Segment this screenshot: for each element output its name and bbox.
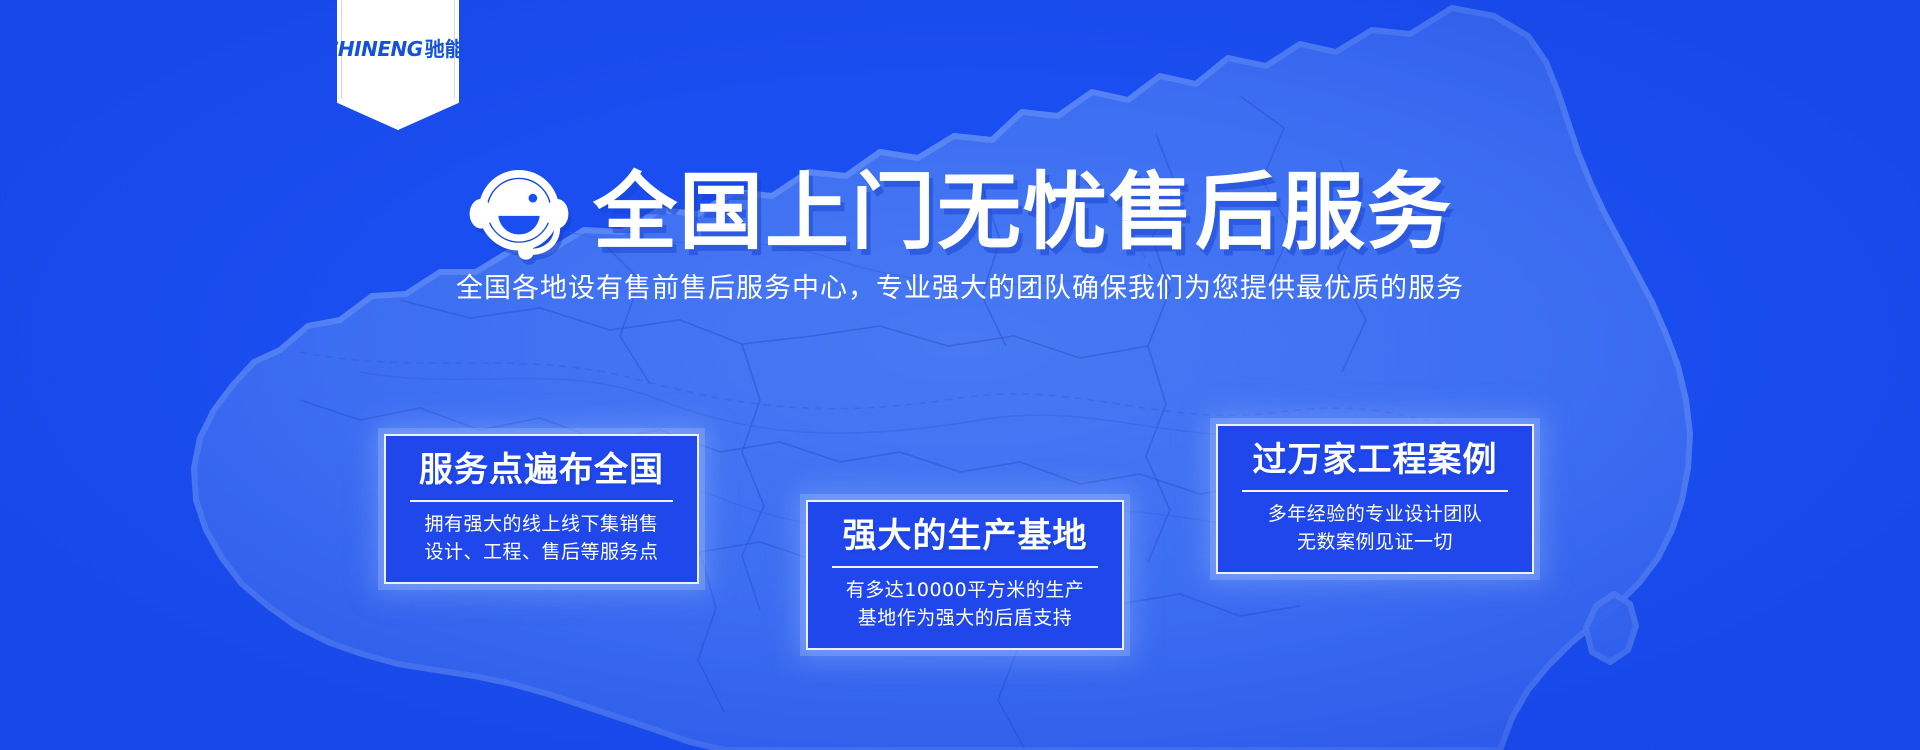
feature-card-desc-line2: 设计、工程、售后等服务点 (408, 539, 675, 567)
page-subtitle: 全国各地设有售前售后服务中心，专业强大的团队确保我们为您提供最优质的服务 (0, 272, 1920, 306)
feature-card-title: 服务点遍布全国 (408, 450, 675, 490)
page-title: 全国上门无忧售后服务 (593, 170, 1453, 254)
feature-card-service-network[interactable]: 服务点遍布全国 拥有强大的线上线下集销售 设计、工程、售后等服务点 (384, 434, 699, 584)
feature-card-desc-line1: 拥有强大的线上线下集销售 (408, 511, 675, 539)
customer-service-smiley-icon (467, 160, 571, 264)
service-banner: CHINENG 驰能 ® 全国上门无忧售后服务 全国各地设有售前售后服务中心，专… (0, 0, 1920, 750)
logo-chinese-text: 驰能 (425, 39, 465, 59)
feature-card-project-cases[interactable]: 过万家工程案例 多年经验的专业设计团队 无数案例见证一切 (1216, 424, 1534, 574)
logo-english-text: CHINENG (324, 39, 423, 59)
feature-card-divider (832, 566, 1098, 568)
headline-row: 全国上门无忧售后服务 (0, 160, 1920, 264)
feature-card-desc-line2: 无数案例见证一切 (1240, 529, 1510, 557)
feature-card-title: 过万家工程案例 (1240, 440, 1510, 480)
feature-card-desc-line1: 有多达10000平方米的生产 (830, 577, 1100, 605)
registered-trademark-icon: ® (466, 37, 473, 46)
feature-card-production-base[interactable]: 强大的生产基地 有多达10000平方米的生产 基地作为强大的后盾支持 (806, 500, 1124, 650)
feature-card-divider (1242, 490, 1508, 492)
logo-ribbon-inner-border (341, 0, 455, 126)
feature-card-title: 强大的生产基地 (830, 516, 1100, 556)
chineng-logo-ribbon[interactable]: CHINENG 驰能 ® (337, 0, 459, 130)
feature-card-divider (410, 500, 673, 502)
feature-card-desc-line2: 基地作为强大的后盾支持 (830, 605, 1100, 633)
logo-lockup: CHINENG 驰能 ® (324, 39, 473, 59)
feature-card-desc-line1: 多年经验的专业设计团队 (1240, 501, 1510, 529)
